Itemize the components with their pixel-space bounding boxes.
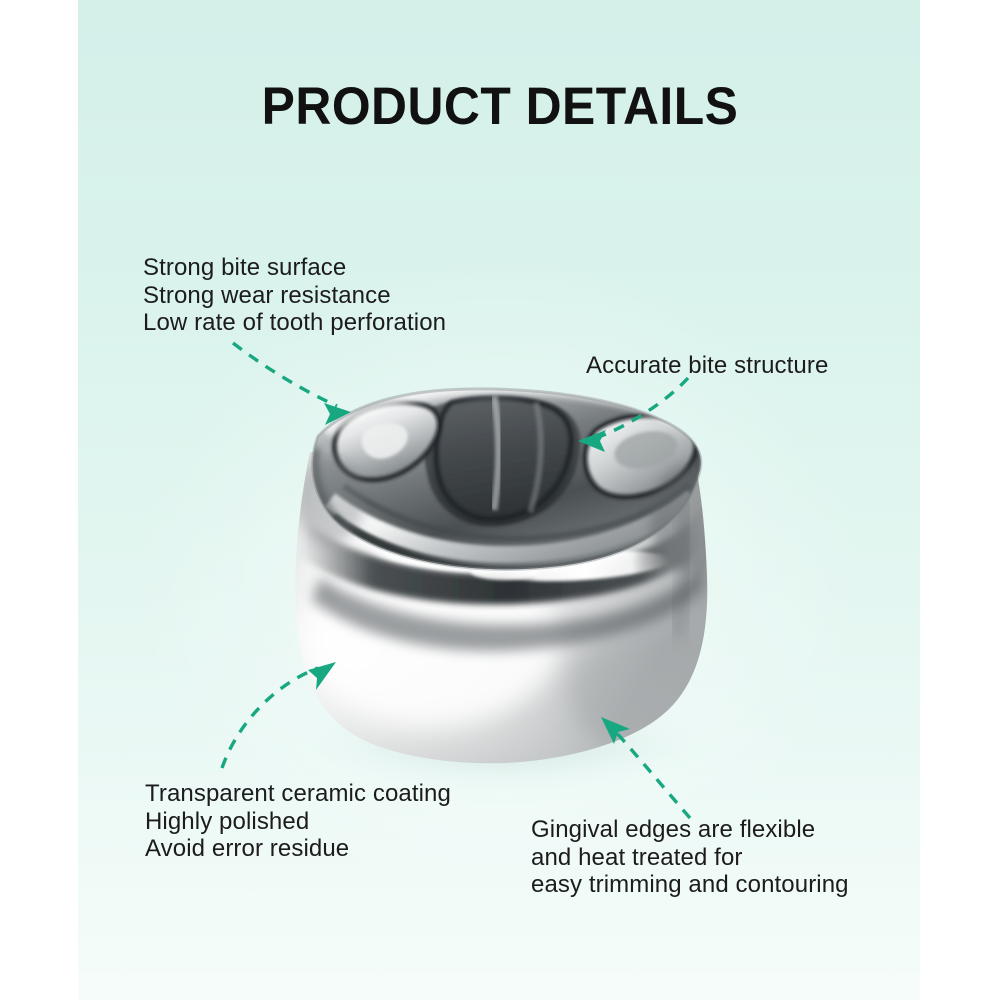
product-details-infographic: .dash{fill:none;stroke:#17a882;stroke-wi… [0, 0, 1000, 1000]
callout-bottom-left: Transparent ceramic coating Highly polis… [145, 780, 451, 863]
callout-bottom-right: Gingival edges are flexible and heat tre… [531, 816, 849, 899]
page-title: PRODUCT DETAILS [30, 80, 970, 133]
callout-top-right: Accurate bite structure [586, 352, 828, 380]
callout-top-left: Strong bite surface Strong wear resistan… [143, 254, 446, 337]
